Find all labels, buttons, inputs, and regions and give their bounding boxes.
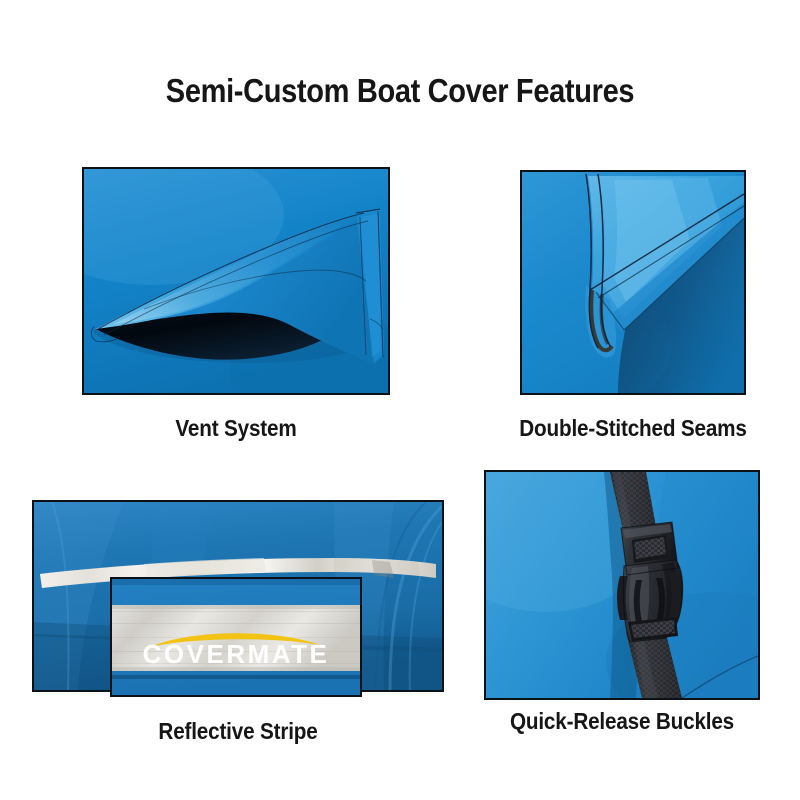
feature-grid-page: Semi-Custom Boat Cover Features (0, 0, 800, 800)
feature-panel-double-stitched-seams (520, 170, 746, 395)
feature-panel-vent-system (82, 167, 390, 395)
caption-quick-release-buckles: Quick-Release Buckles (498, 708, 746, 735)
page-title: Semi-Custom Boat Cover Features (48, 72, 752, 110)
caption-double-stitched-seams: Double-Stitched Seams (513, 415, 752, 442)
quick-release-buckles-photo (486, 472, 758, 698)
caption-reflective-stripe: Reflective Stripe (53, 718, 424, 745)
vent-system-photo (84, 169, 388, 393)
covermate-logo-closeup: COVERMATE (112, 579, 360, 695)
double-stitched-seams-photo (522, 172, 744, 393)
caption-vent-system: Vent System (97, 415, 374, 442)
covermate-wordmark: COVERMATE (143, 639, 330, 669)
covermate-logo-inset-panel: COVERMATE (110, 577, 362, 697)
feature-panel-quick-release-buckles (484, 470, 760, 700)
